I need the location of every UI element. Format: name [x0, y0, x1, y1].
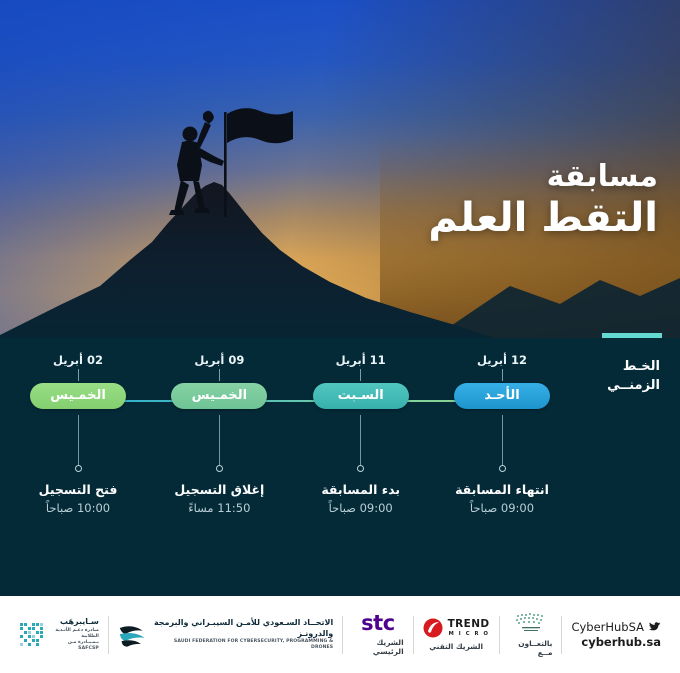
footer-stc-logo[interactable]: stc الشريك الرئيسي [343, 606, 412, 664]
stc-wordmark: stc [361, 613, 395, 634]
timeline-item-event: إغلاق التسجيل [153, 482, 285, 498]
timeline-stem-up [502, 369, 503, 381]
poster-title: مسابقة التقط العلم [428, 160, 658, 242]
timeline-item-time: 11:50 مساءً [153, 501, 285, 516]
timeline-marker-dot [499, 465, 506, 472]
timeline-item[interactable]: 11 أبريل السـبت بدء المسابقة 09:00 صباحا… [295, 352, 427, 522]
poster-title-line2: التقط العلم [428, 195, 658, 242]
timeline-item-time: 09:00 صباحاً [436, 501, 568, 516]
trend-micro-ball-icon [423, 618, 443, 638]
timeline-stem-down [78, 415, 79, 465]
timeline-item-event: انتهاء المسابقة [436, 482, 568, 498]
timeline-nodes: 12 أبريل الأحـد انتهاء المسابقة 09:00 صب… [12, 352, 568, 522]
timeline-marker-dot [75, 465, 82, 472]
footer-cyberhub-logo[interactable]: سـايبرهَب مبادرة دعـم الأنـدية الطلابية … [10, 606, 108, 664]
timeline-stem-down [502, 415, 503, 465]
safcsp-name-en: SAUDI FEDERATION FOR CYBERSECURITY, PROG… [153, 639, 333, 651]
timeline-marker-dot [216, 465, 223, 472]
timeline-stem-up [360, 369, 361, 381]
timeline-item-event: بدء المسابقة [295, 482, 427, 498]
safcsp-swoosh-icon [118, 622, 148, 648]
timeline-section: الخـط الزمنــي 12 أبريل الأحـد انتهاء ال… [0, 338, 680, 596]
cyberhub-url-text: cyberhub.sa [581, 635, 661, 649]
teal-accent-bar [602, 333, 662, 338]
cyberhub-handle-text: CyberHubSA [571, 620, 644, 634]
footer-divider [413, 616, 414, 654]
footer-trendmicro-logo[interactable]: TREND M I C R O الشريك التقني [414, 606, 499, 664]
footer-cyberhub-handle[interactable]: CyberHubSA cyberhub.sa [562, 606, 670, 664]
timeline-heading: الخـط الزمنــي [607, 358, 660, 396]
footer-divider [108, 616, 109, 654]
timeline-item-day-pill[interactable]: السـبت [313, 383, 409, 409]
trendmicro-caption: الشريك التقني [429, 642, 483, 651]
footer-divider [499, 616, 500, 654]
ministry-of-education-icon [514, 613, 548, 635]
timeline-stem-up [78, 369, 79, 381]
timeline-item-event: فتح التسجيل [12, 482, 144, 498]
cyberhub-name-ar: سـايبرهَب [50, 617, 99, 628]
poster: مسابقة التقط العلم الخـط الزمنــي 12 أبر… [0, 0, 680, 673]
timeline-item-day-pill[interactable]: الخمـيس [30, 383, 126, 409]
timeline-item-day-pill[interactable]: الأحـد [454, 383, 550, 409]
timeline-item[interactable]: 12 أبريل الأحـد انتهاء المسابقة 09:00 صب… [436, 352, 568, 522]
timeline-item-date: 12 أبريل [436, 352, 568, 368]
timeline-stem-down [360, 415, 361, 465]
ministry-caption: بالتعــاون مــع [509, 639, 553, 657]
stc-caption: الشريك الرئيسي [352, 638, 403, 656]
timeline-item-date: 11 أبريل [295, 352, 427, 368]
cyberhub-grid-icon [19, 621, 45, 647]
poster-title-line1: مسابقة [428, 160, 658, 195]
safcsp-name-ar: الاتحــاد السـعودي للأمـن السيبـراني وال… [153, 618, 333, 639]
timeline-item-date: 09 أبريل [153, 352, 285, 368]
timeline-item-day-pill[interactable]: الخمـيس [171, 383, 267, 409]
footer-safcsp-logo[interactable]: الاتحــاد السـعودي للأمـن السيبـراني وال… [109, 606, 342, 664]
timeline-item[interactable]: 02 أبريل الخمـيس فتح التسجيل 10:00 صباحا… [12, 352, 144, 522]
twitter-bird-icon [648, 622, 661, 633]
timeline-stem-down [219, 415, 220, 465]
footer-divider [342, 616, 343, 654]
timeline-stem-up [219, 369, 220, 381]
timeline-item[interactable]: 09 أبريل الخمـيس إغلاق التسجيل 11:50 مسا… [153, 352, 285, 522]
timeline-heading-line2: الزمنــي [607, 377, 660, 396]
footer-logo-bar: سـايبرهَب مبادرة دعـم الأنـدية الطلابية … [0, 596, 680, 673]
trendmicro-wordmark-sub: M I C R O [448, 631, 490, 637]
hero-banner: مسابقة التقط العلم [0, 0, 680, 340]
trendmicro-wordmark: TREND [448, 619, 490, 630]
cyberhub-tagline: مبادرة دعـم الأنـدية الطلابية [50, 628, 99, 640]
timeline-item-time: 10:00 صباحاً [12, 501, 144, 516]
footer-ministry-logo[interactable]: بالتعــاون مــع [500, 606, 562, 664]
timeline-item-time: 09:00 صباحاً [295, 501, 427, 516]
cyberhub-byline: بـمـبـادرة مـن SAFCSP [50, 640, 99, 652]
timeline-heading-line1: الخـط [607, 358, 660, 377]
timeline-marker-dot [357, 465, 364, 472]
footer-divider [561, 616, 562, 654]
timeline-item-date: 02 أبريل [12, 352, 144, 368]
